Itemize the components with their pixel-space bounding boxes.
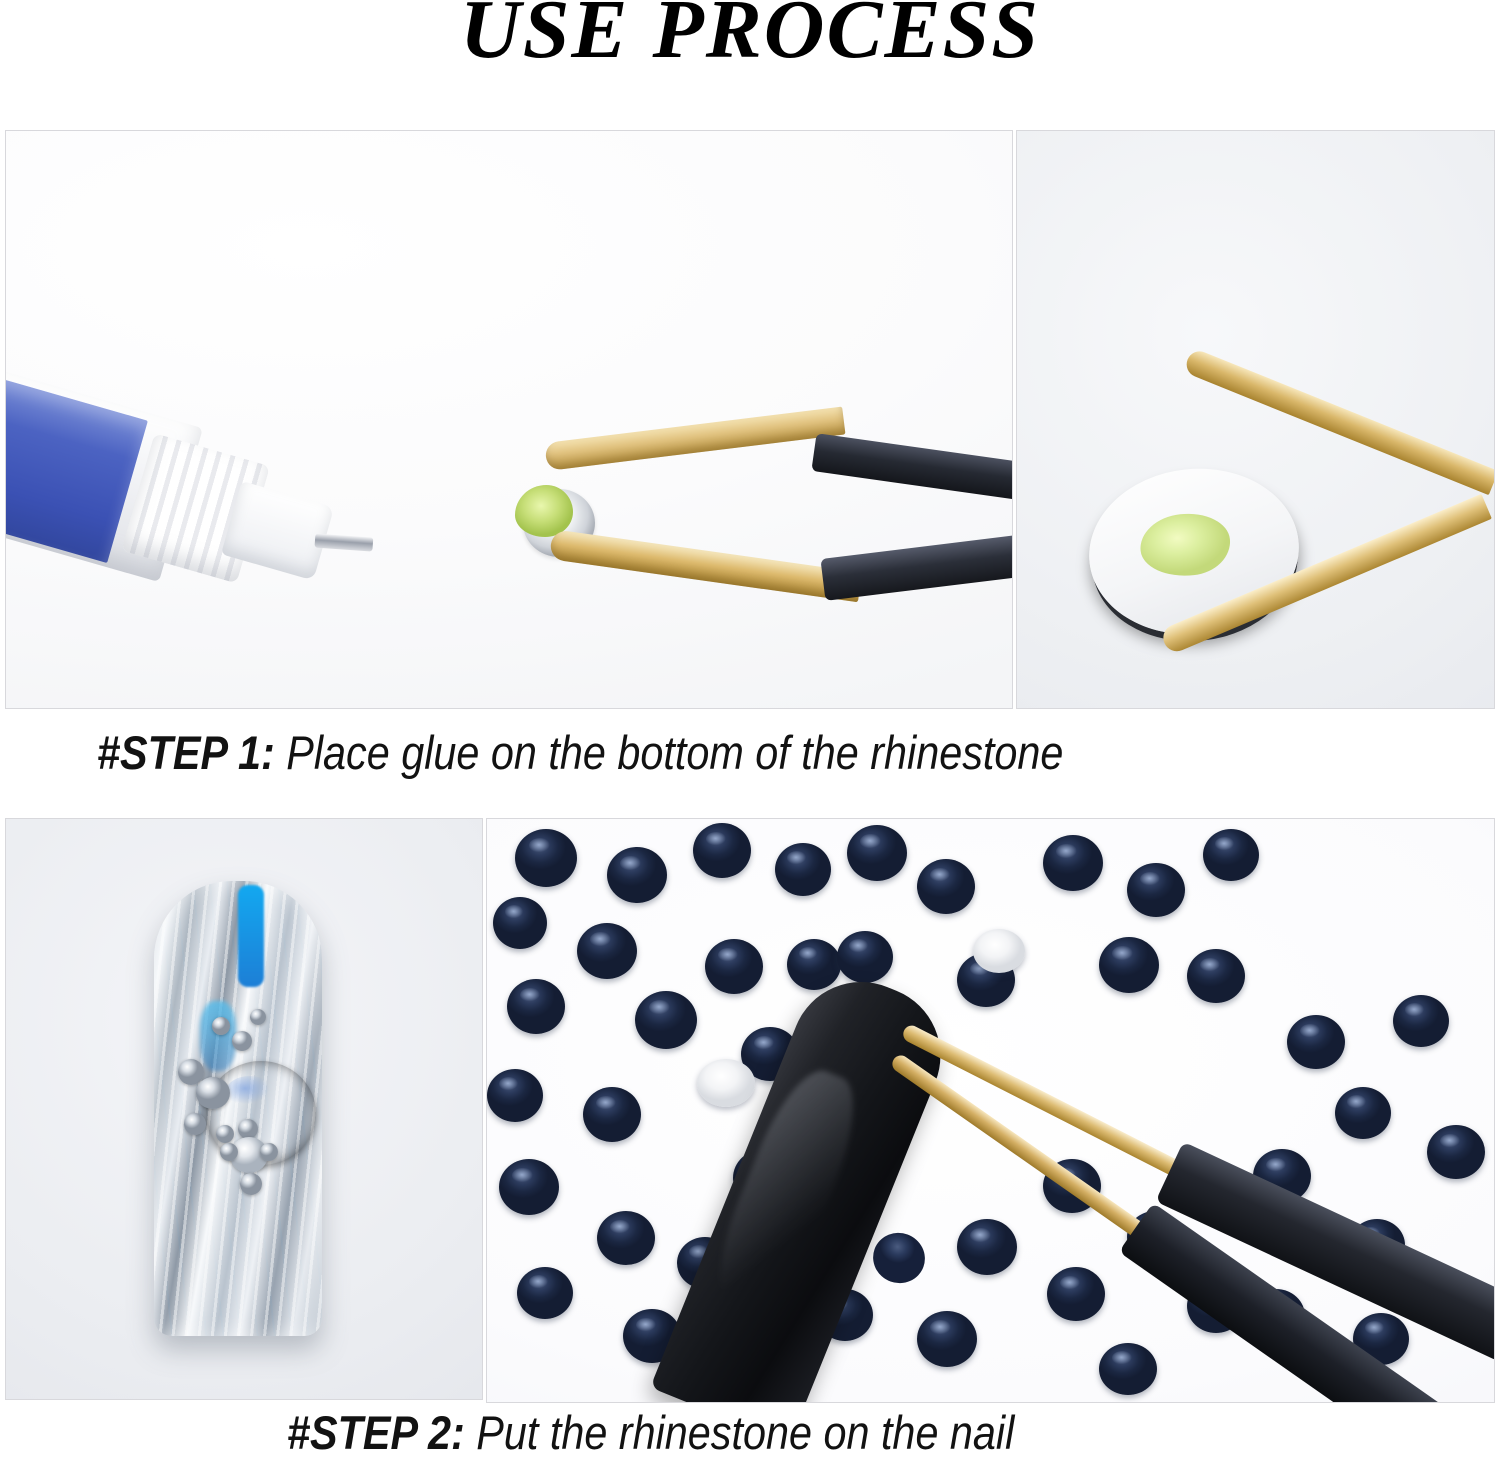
rhinestone <box>493 897 547 949</box>
rhinestone <box>847 825 907 881</box>
tweezers-upper-arm <box>546 443 1013 477</box>
rhinestone-flat-back <box>697 1059 755 1107</box>
rhinestone <box>635 991 697 1049</box>
step-1-caption: #STEP 1: Place glue on the bottom of the… <box>97 725 1063 780</box>
rhinestone <box>957 1219 1017 1275</box>
rhinestone <box>1427 1125 1485 1179</box>
silver-bead <box>260 1143 278 1161</box>
rhinestone <box>1127 863 1185 917</box>
rhinestone <box>507 979 565 1034</box>
step-2-label: #STEP 2: <box>287 1406 465 1459</box>
step-1-label: #STEP 1: <box>97 726 275 779</box>
silver-bead <box>184 1113 206 1135</box>
rhinestone <box>917 1311 977 1367</box>
panel-finished-nail <box>5 818 483 1400</box>
rhinestone <box>1335 1087 1391 1139</box>
rhinestone <box>1287 1015 1345 1069</box>
tweezers-lower-arm <box>551 529 1013 569</box>
rhinestone <box>583 1087 641 1142</box>
rhinestone <box>775 843 831 896</box>
glue-drop <box>1137 509 1233 580</box>
rhinestone <box>837 931 893 983</box>
panel-glue-on-stone <box>1016 130 1495 709</box>
rhinestone <box>577 923 637 979</box>
silver-bead <box>196 1077 230 1109</box>
rhinestone <box>515 829 577 887</box>
silver-bead <box>216 1125 234 1143</box>
step-2-text: Put the rhinestone on the nail <box>465 1406 1015 1459</box>
rhinestone <box>1099 1343 1157 1395</box>
panel-glue-applicator: RH <box>5 130 1013 709</box>
rhinestone <box>607 847 667 903</box>
silver-bead <box>238 1119 258 1139</box>
rhinestone <box>1393 995 1449 1047</box>
rhinestone <box>705 939 763 994</box>
rhinestone-flat-back <box>973 929 1025 973</box>
rhinestone <box>597 1211 655 1265</box>
rhinestone <box>499 1159 559 1215</box>
blue-accent <box>238 885 264 987</box>
rhinestone <box>1203 829 1259 881</box>
silver-bead <box>250 1009 266 1025</box>
rhinestone <box>1099 937 1159 993</box>
silver-bead <box>212 1017 230 1035</box>
silver-bead <box>232 1031 252 1051</box>
blue-accent <box>200 1001 236 1071</box>
rhinestone <box>517 1267 573 1319</box>
rhinestone <box>1043 835 1103 891</box>
silver-bead <box>240 1173 262 1195</box>
rhinestone <box>1187 949 1245 1003</box>
panel-placing-stone <box>486 818 1495 1403</box>
rhinestone <box>693 823 751 878</box>
step-2-caption: #STEP 2: Put the rhinestone on the nail <box>287 1405 1014 1460</box>
rhinestone <box>487 1069 543 1122</box>
silver-bead <box>220 1143 238 1161</box>
step-1-text: Place glue on the bottom of the rhinesto… <box>275 726 1064 779</box>
page-title: USE PROCESS <box>0 0 1500 74</box>
rhinestone <box>787 939 841 990</box>
decorated-nail <box>154 881 322 1336</box>
rhinestone <box>1047 1267 1105 1321</box>
rhinestone <box>917 859 975 914</box>
